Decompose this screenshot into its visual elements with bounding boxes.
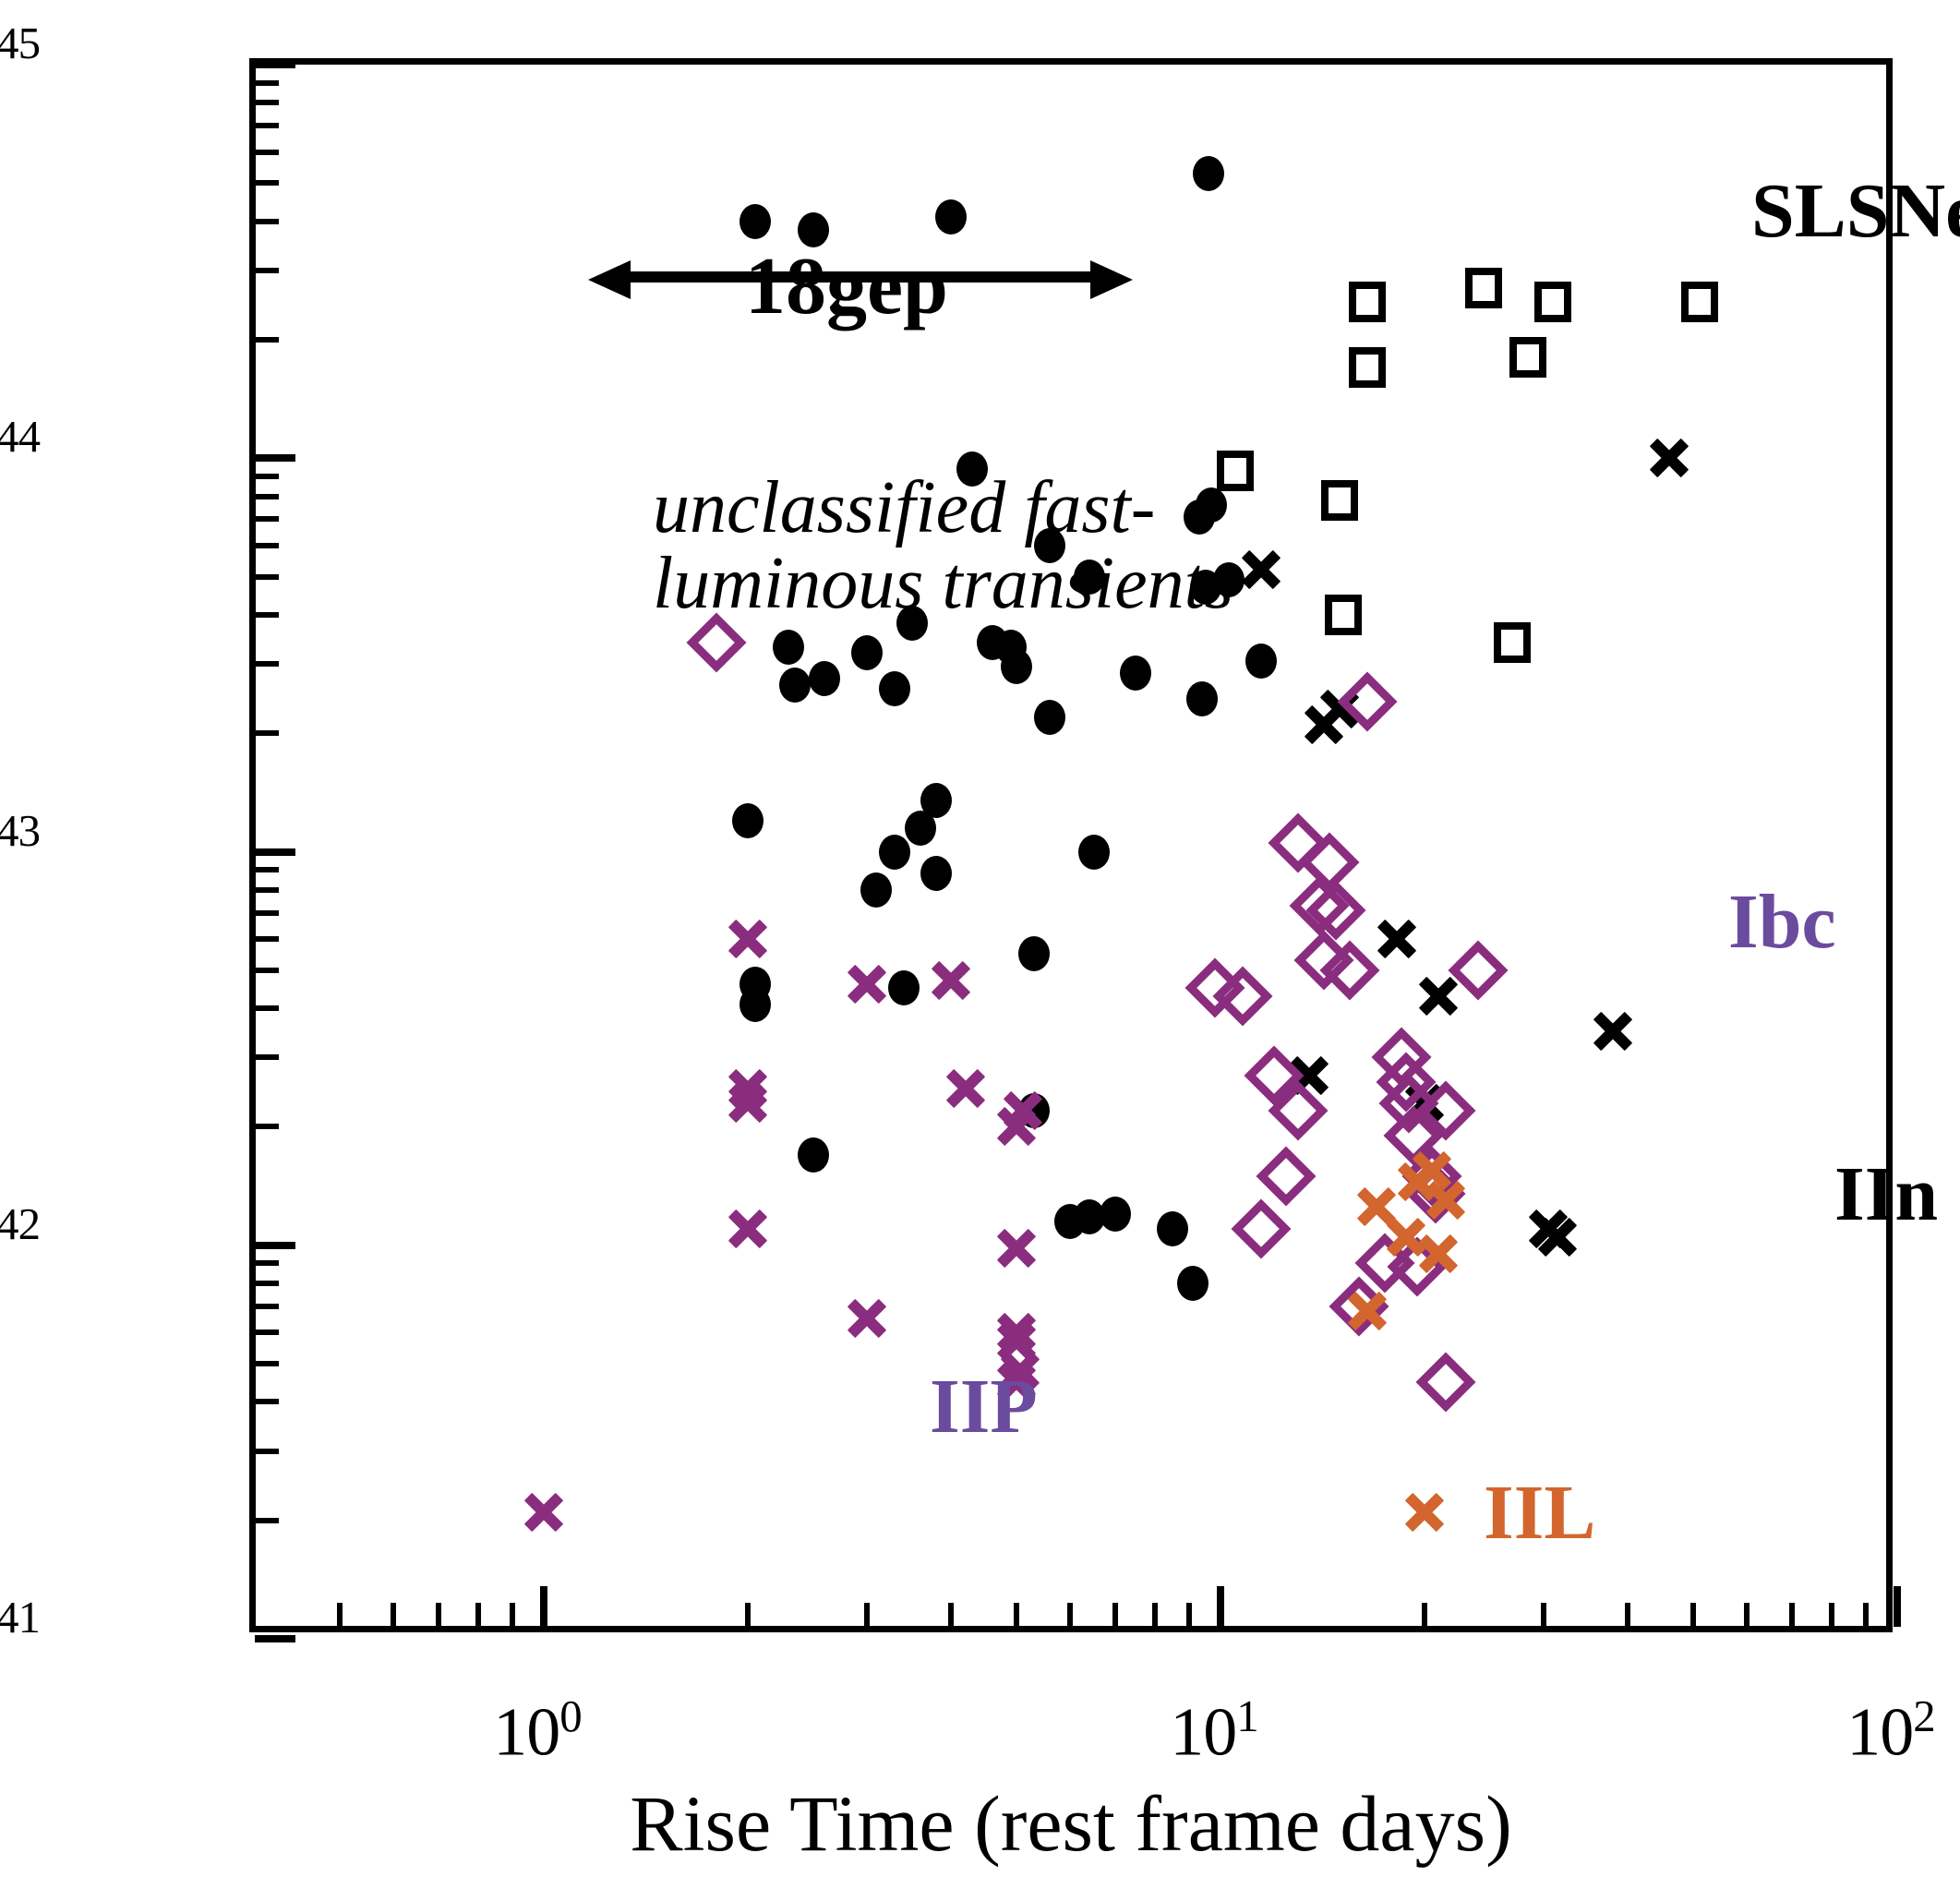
x-major-tick <box>1217 1586 1224 1627</box>
data-point-unclassified-fast-luminous-transients <box>773 630 804 665</box>
x-minor-tick <box>475 1603 481 1627</box>
x-minor-tick <box>1186 1603 1192 1627</box>
slsne-label: SLSNe <box>1751 166 1960 256</box>
unclassified-transients-label: unclassified fast-luminous transients <box>653 471 1317 621</box>
y-minor-tick <box>255 730 279 736</box>
x-tick-label: 102 <box>1846 1690 1934 1773</box>
y-minor-tick <box>255 494 279 499</box>
data-point-iip <box>995 1227 1038 1269</box>
data-point-slsne <box>1325 595 1362 635</box>
data-point-slsne <box>1534 282 1571 322</box>
data-point-unclassified-fast-luminous-transients <box>1001 649 1032 684</box>
x-tick-label: 100 <box>493 1690 581 1773</box>
y-minor-tick <box>255 910 279 916</box>
data-point-iip <box>944 1067 987 1110</box>
data-point-slsne <box>1321 480 1358 521</box>
data-point-iip <box>727 918 769 960</box>
data-point-iil <box>1425 1179 1467 1221</box>
y-minor-tick <box>255 337 279 343</box>
data-point-ibc <box>1257 1146 1317 1206</box>
x-minor-tick <box>1829 1603 1834 1627</box>
y-minor-tick <box>255 474 279 479</box>
data-point-slsne <box>1465 268 1502 308</box>
y-major-tick <box>255 1635 295 1642</box>
x-major-tick <box>540 1586 547 1627</box>
x-minor-tick <box>1152 1603 1158 1627</box>
x-major-tick <box>1894 1586 1901 1627</box>
x-minor-tick <box>1112 1603 1118 1627</box>
data-point-unclassified-fast-luminous-transients <box>798 1137 829 1173</box>
data-point-unclassified-fast-luminous-transients <box>851 635 883 670</box>
data-point-slsne <box>1494 622 1531 663</box>
y-major-tick <box>255 454 295 462</box>
x-minor-tick <box>1067 1603 1073 1627</box>
data-point-unclassified-fast-luminous-transients <box>888 970 920 1005</box>
x-minor-tick <box>1863 1603 1869 1627</box>
y-tick-label: 1042 <box>0 1197 40 1281</box>
y-minor-tick <box>255 123 279 128</box>
data-point-unclassified-fast-luminous-transients <box>1157 1211 1188 1246</box>
data-point-unclassified-fast-luminous-transients <box>809 661 840 696</box>
y-minor-tick <box>255 1361 279 1366</box>
x-minor-tick <box>510 1603 515 1627</box>
y-tick-label: 1044 <box>0 410 40 493</box>
data-point-iil <box>1417 1233 1460 1275</box>
data-point-iip <box>727 1208 769 1250</box>
x-minor-tick <box>1541 1603 1546 1627</box>
data-point-unclassified-fast-luminous-transients <box>1186 681 1218 716</box>
data-point-unclassified-fast-luminous-transients <box>920 783 952 818</box>
y-minor-tick <box>255 574 279 580</box>
data-point-unclassified-fast-luminous-transients <box>935 199 967 235</box>
data-point-iip <box>727 1082 769 1125</box>
x-tick-label: 101 <box>1170 1690 1257 1773</box>
iin-label: IIn <box>1834 1149 1938 1239</box>
y-minor-tick <box>255 180 279 186</box>
data-point-unclassified-fast-luminous-transients <box>1177 1266 1208 1301</box>
data-point-iin <box>1592 1010 1634 1053</box>
y-minor-tick <box>255 661 279 667</box>
data-point-slsne <box>1509 337 1546 378</box>
y-minor-tick <box>255 887 279 893</box>
iil-label: IIL <box>1484 1468 1595 1558</box>
data-point-iil <box>1403 1491 1446 1534</box>
x-minor-tick <box>1422 1603 1427 1627</box>
x-minor-tick <box>1625 1603 1630 1627</box>
y-minor-tick <box>255 1124 279 1129</box>
data-point-unclassified-fast-luminous-transients <box>732 803 764 838</box>
data-point-ibc <box>1232 1199 1292 1259</box>
x-minor-tick <box>391 1603 396 1627</box>
y-minor-tick <box>255 219 279 224</box>
data-point-unclassified-fast-luminous-transients <box>740 987 771 1022</box>
y-minor-tick <box>255 1304 279 1309</box>
y-minor-tick <box>255 1054 279 1060</box>
arrow-head-right <box>1090 260 1133 299</box>
y-minor-tick <box>255 1329 279 1335</box>
iip-label: IIP <box>930 1362 1038 1451</box>
x-minor-tick <box>337 1603 343 1627</box>
y-minor-tick <box>255 100 279 105</box>
y-minor-tick <box>255 1260 279 1266</box>
y-minor-tick <box>255 80 279 86</box>
data-point-iip <box>1002 1089 1044 1132</box>
data-point-unclassified-fast-luminous-transients <box>740 204 771 239</box>
data-point-unclassified-fast-luminous-transients <box>1018 936 1050 971</box>
data-point-unclassified-fast-luminous-transients <box>1120 656 1151 691</box>
x-minor-tick <box>1789 1603 1795 1627</box>
data-point-slsne <box>1681 282 1718 322</box>
x-minor-tick <box>1744 1603 1750 1627</box>
data-point-iil <box>1346 1290 1389 1332</box>
plot-area: 18gep unclassified fast-luminous transie… <box>249 58 1893 1632</box>
data-point-unclassified-fast-luminous-transients <box>1034 700 1065 735</box>
y-minor-tick <box>255 936 279 942</box>
y-minor-tick <box>255 268 279 273</box>
data-point-unclassified-fast-luminous-transients <box>1193 156 1224 191</box>
y-tick-label: 1041 <box>0 1591 40 1674</box>
scatter-figure: Peak Bolometric Luminosity (erg/s) Rise … <box>0 0 1960 1901</box>
y-major-tick <box>255 1242 295 1249</box>
data-point-ibc <box>1415 1352 1475 1412</box>
y-minor-tick <box>255 867 279 872</box>
y-major-tick <box>255 61 295 68</box>
data-point-iip <box>846 963 888 1005</box>
x-minor-tick <box>745 1603 751 1627</box>
data-point-iip <box>846 1297 888 1340</box>
data-point-unclassified-fast-luminous-transients <box>1078 835 1110 870</box>
y-minor-tick <box>255 150 279 155</box>
ibc-label: Ibc <box>1728 877 1836 967</box>
y-minor-tick <box>255 543 279 548</box>
data-point-unclassified-fast-luminous-transients <box>879 671 910 706</box>
data-point-unclassified-fast-luminous-transients <box>1245 644 1277 679</box>
x-minor-tick <box>436 1603 441 1627</box>
data-point-unclassified-fast-luminous-transients <box>1100 1197 1131 1232</box>
y-minor-tick <box>255 968 279 973</box>
x-minor-tick <box>1690 1603 1696 1627</box>
y-minor-tick <box>255 1399 279 1404</box>
y-tick-label: 1043 <box>0 804 40 887</box>
x-minor-tick <box>948 1603 954 1627</box>
x-minor-tick <box>1014 1603 1019 1627</box>
data-point-iin <box>1376 918 1418 960</box>
data-point-slsne <box>1349 347 1386 388</box>
y-minor-tick <box>255 1005 279 1011</box>
data-point-unclassified-fast-luminous-transients <box>779 668 811 703</box>
data-point-iip <box>930 959 972 1002</box>
y-tick-label: 1045 <box>0 17 40 100</box>
data-point-unclassified-fast-luminous-transients <box>860 872 892 908</box>
y-minor-tick <box>255 1518 279 1523</box>
data-point-slsne <box>1349 282 1386 322</box>
y-major-tick <box>255 848 295 856</box>
plot-inner: 18gep unclassified fast-luminous transie… <box>256 65 1886 1626</box>
y-minor-tick <box>255 1281 279 1286</box>
data-point-unclassified-fast-luminous-transients <box>920 856 952 891</box>
x-minor-tick <box>864 1603 870 1627</box>
y-minor-tick <box>255 1449 279 1454</box>
data-point-unclassified-fast-luminous-transients <box>879 835 910 870</box>
data-point-iin <box>1536 1216 1579 1258</box>
data-point-iin <box>1417 975 1460 1017</box>
x-axis-title: Rise Time (rest frame days) <box>630 1777 1511 1870</box>
data-point-iip <box>523 1491 565 1534</box>
data-point-iin <box>1648 437 1690 479</box>
y-minor-tick <box>255 516 279 522</box>
y-minor-tick <box>255 612 279 618</box>
18gep-label: 18gep <box>745 240 948 333</box>
